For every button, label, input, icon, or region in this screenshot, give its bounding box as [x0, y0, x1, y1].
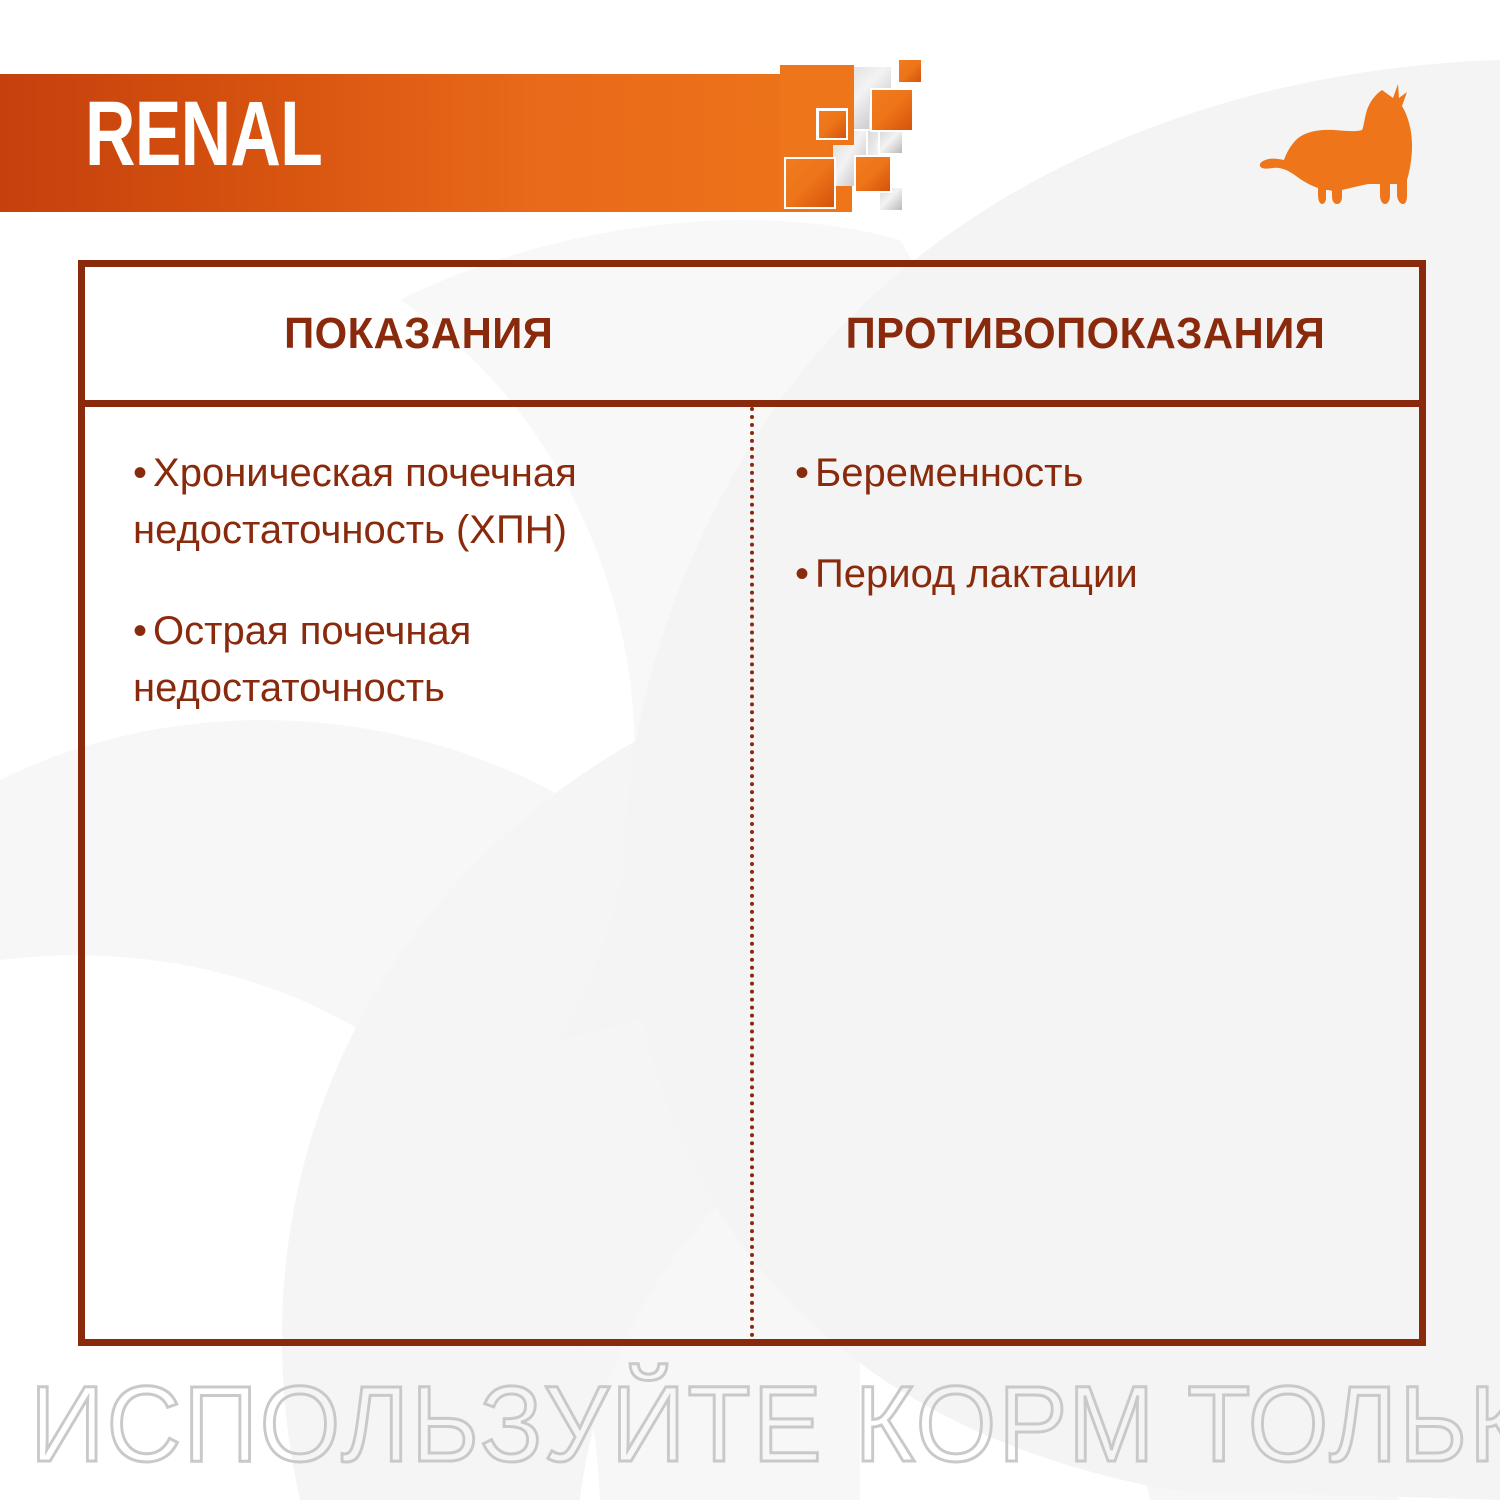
footer-notice: ИСПОЛЬЗУЙТЕ КОРМ ТОЛЬКО ПО НАЗНАЧЕНИЮ ВР…	[30, 1368, 1470, 1480]
list-item: •Острая почечная недостаточность	[133, 603, 693, 717]
column-header-indications: ПОКАЗАНИЯ	[284, 310, 553, 358]
indications-table: ПОКАЗАНИЯ ПРОТИВОПОКАЗАНИЯ •Хроническая …	[78, 260, 1426, 1346]
list-item: •Беременность	[795, 445, 1355, 502]
table-header-cell-indications: ПОКАЗАНИЯ	[85, 267, 752, 400]
bullet-glyph: •	[795, 451, 809, 495]
table-header-cell-contraindications: ПРОТИВОПОКАЗАНИЯ	[752, 267, 1419, 400]
bullet-glyph: •	[795, 552, 809, 596]
mosaic-squares-icon	[780, 55, 1010, 240]
list-item-label: Хроническая почечная недостаточность (ХП…	[133, 451, 577, 552]
list-item-label: Беременность	[815, 451, 1083, 495]
contraindications-column: •Беременность •Период лактации	[757, 407, 1419, 1346]
list-item: •Хроническая почечная недостаточность (Х…	[133, 445, 693, 559]
table-header-row: ПОКАЗАНИЯ ПРОТИВОПОКАЗАНИЯ	[85, 267, 1419, 407]
list-item: •Период лактации	[795, 546, 1355, 603]
page-title: RENAL	[85, 86, 322, 182]
column-header-contraindications: ПРОТИВОПОКАЗАНИЯ	[846, 310, 1326, 358]
bullet-glyph: •	[133, 451, 147, 495]
list-item-label: Острая почечная недостаточность	[133, 609, 471, 710]
table-body-row: •Хроническая почечная недостаточность (Х…	[85, 407, 1419, 1346]
cat-silhouette-icon	[1250, 68, 1440, 228]
indications-column: •Хроническая почечная недостаточность (Х…	[85, 407, 757, 1346]
bullet-glyph: •	[133, 609, 147, 653]
list-item-label: Период лактации	[815, 552, 1138, 596]
column-divider	[750, 407, 754, 1346]
